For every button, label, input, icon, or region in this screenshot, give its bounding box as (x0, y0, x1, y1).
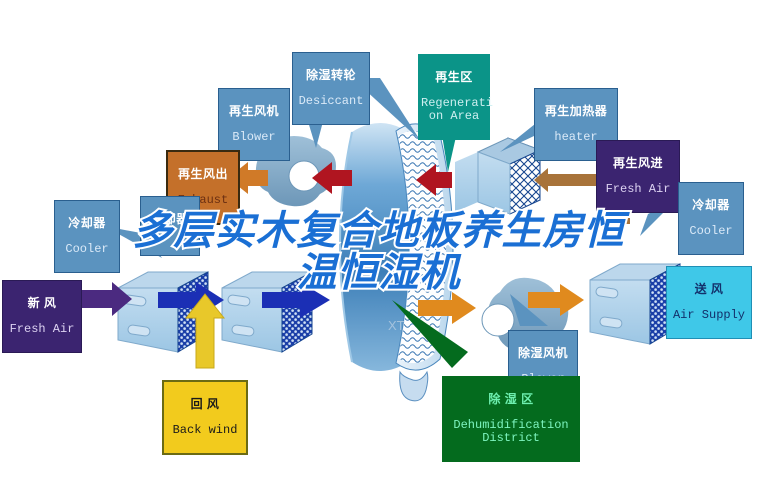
label-air-supply[interactable]: 送 风 Air Supply (666, 266, 752, 339)
label-regen-heater-cn: 再生加热器 (537, 105, 615, 118)
label-regen-area-cn: 再生区 (421, 71, 487, 84)
regen-heater-graphic (455, 138, 540, 214)
label-cooler-right[interactable]: 冷却器 Cooler (678, 182, 744, 255)
label-regen-fresh-air-cn: 再生风进 (599, 157, 677, 170)
label-regen-blower-en: Blower (221, 131, 287, 144)
label-fresh-air-in-cn: 新 风 (5, 297, 79, 310)
label-desiccant-wheel-cn: 除湿转轮 (295, 69, 367, 82)
label-dehum-district[interactable]: 除 湿 区 Dehumidification District (442, 376, 580, 462)
label-regen-fresh-air[interactable]: 再生风进 Fresh Air (596, 140, 680, 213)
label-fresh-air-in-en: Fresh Air (5, 323, 79, 336)
label-regen-blower-cn: 再生风机 (221, 105, 287, 118)
label-regen-area[interactable]: 再生区 Regenerati on Area (418, 54, 490, 140)
label-cooler-right-en: Cooler (681, 225, 741, 238)
label-regen-fresh-air-en: Fresh Air (599, 183, 677, 196)
label-regen-area-en: Regenerati on Area (421, 97, 487, 123)
label-dehum-district-cn: 除 湿 区 (445, 393, 577, 406)
label-desiccant-wheel-en: Desiccant (295, 95, 367, 108)
label-back-wind-cn: 回 风 (166, 398, 244, 411)
label-cooler-right-cn: 冷却器 (681, 199, 741, 212)
label-desiccant-wheel[interactable]: 除湿转轮 Desiccant (292, 52, 370, 125)
label-fresh-air-in[interactable]: 新 风 Fresh Air (2, 280, 82, 353)
label-dehum-district-en: Dehumidification District (445, 419, 577, 445)
label-cooler-mid-cn: 冷却器 (143, 213, 197, 226)
diagram-canvas: XT (0, 0, 757, 488)
desiccant-wheel-graphic: XT (340, 123, 453, 401)
label-regen-exhaust-cn: 再生风出 (170, 168, 236, 181)
label-cooler-left[interactable]: 冷却器 Cooler (54, 200, 120, 273)
label-air-supply-en: Air Supply (669, 309, 749, 322)
label-cooler-mid[interactable]: 冷却器 (140, 196, 200, 256)
label-dehum-blower-cn: 除湿风机 (511, 347, 575, 360)
label-air-supply-cn: 送 风 (669, 283, 749, 296)
label-back-wind-en: Back wind (166, 424, 244, 437)
label-cooler-left-cn: 冷却器 (57, 217, 117, 230)
small-watermark: XT (388, 318, 405, 333)
label-back-wind[interactable]: 回 风 Back wind (162, 380, 248, 455)
cooler-coil-2-graphic (222, 272, 312, 352)
label-cooler-left-en: Cooler (57, 243, 117, 256)
